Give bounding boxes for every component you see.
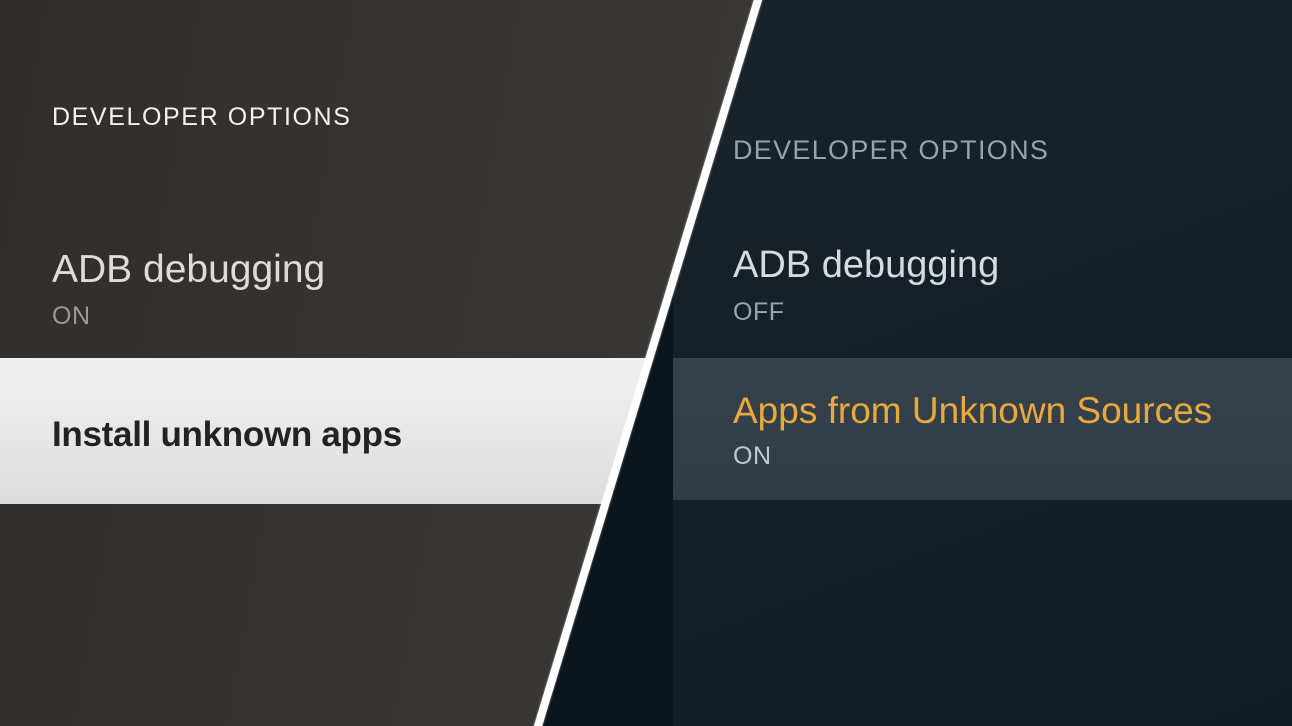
right-list-item-status: OFF: [733, 298, 785, 327]
right-list-item-title: Apps from Unknown Sources: [733, 390, 1212, 432]
left-list-item-title: ADB debugging: [52, 248, 325, 292]
left-page-title: DEVELOPER OPTIONS: [52, 103, 352, 132]
left-list-item-title: Install unknown apps: [52, 415, 402, 455]
right-list-item-adb-debugging[interactable]: ADB debugging OFF: [673, 232, 1292, 358]
left-list-item-status: ON: [52, 302, 91, 331]
comparison-screenshot: DEVELOPER OPTIONS ADB debugging ON Insta…: [0, 0, 1292, 726]
right-list-item-title: ADB debugging: [733, 244, 999, 287]
left-list-item-adb-debugging[interactable]: ADB debugging ON: [0, 232, 760, 358]
right-page-title: DEVELOPER OPTIONS: [733, 135, 1049, 166]
right-list-item-status: ON: [733, 442, 772, 471]
right-list-item-apps-from-unknown-sources[interactable]: Apps from Unknown Sources ON: [673, 358, 1292, 500]
